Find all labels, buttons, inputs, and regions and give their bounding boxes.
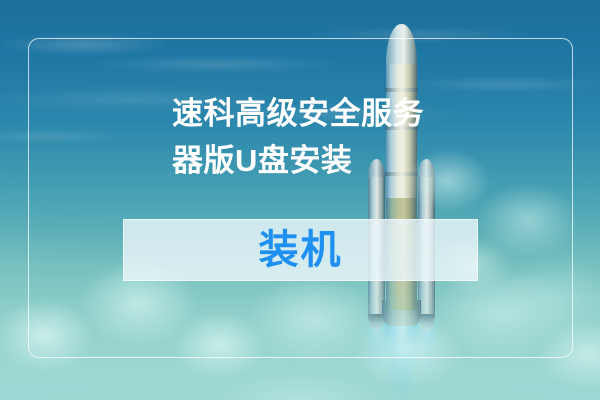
install-button[interactable]: 装机 xyxy=(123,219,478,281)
promo-banner: 速科高级安全服务 器版U盘安装 装机 xyxy=(0,0,600,400)
install-button-label: 装机 xyxy=(259,230,343,270)
atmospheric-haze xyxy=(0,0,600,400)
page-title: 速科高级安全服务 器版U盘安装 xyxy=(172,90,502,184)
